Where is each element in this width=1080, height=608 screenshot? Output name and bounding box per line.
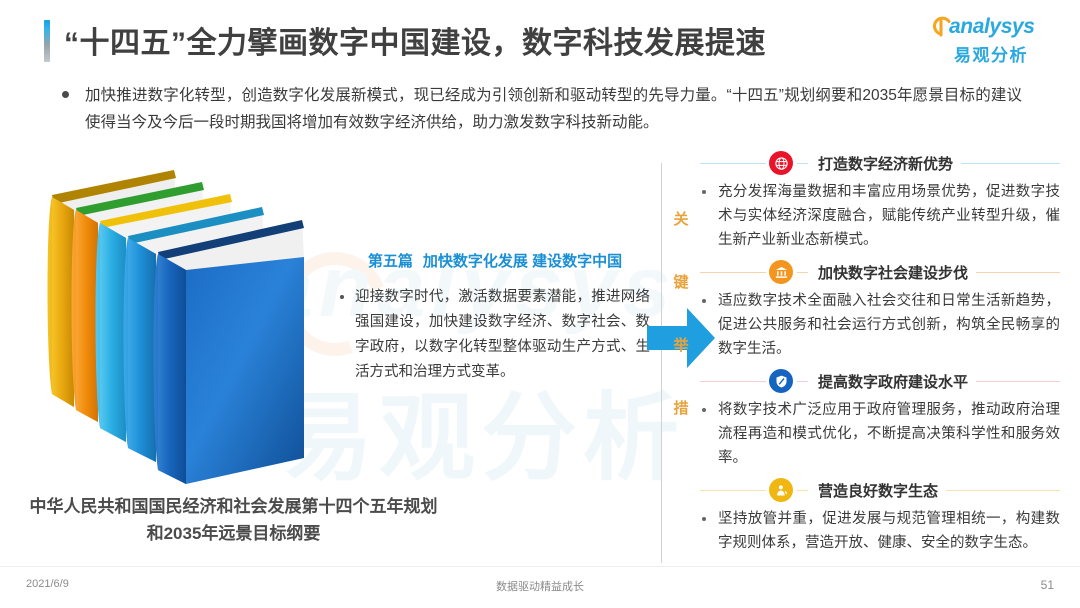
global-economy-icon [769,151,793,175]
section-rule-right [976,381,1060,382]
section-title: 加快数字社会建设步伐 [818,262,968,283]
brand-name-cn: 易观分析 [930,41,1052,66]
stacked-books-illustration [34,162,334,492]
page-title: “十四五”全力擘画数字中国建设，数字科技发展提速 [64,18,766,62]
footer-page-number: 51 [1041,578,1054,592]
bullet-icon [702,517,706,521]
lead-text: 加快推进数字化转型，创造数字化发展新模式，现已经成为引领创新和驱动转型的先导力量… [85,82,1022,136]
person-ecology-icon [769,478,793,502]
measure-section-4: 营造良好数字生态 坚持放管并重，促进发展与规范管理相统一，构建数字规则体系，营造… [700,477,1060,555]
section-rule-left [700,163,766,164]
brand-wordmark: analysys [949,15,1035,39]
footer-slogan: 数据驱动精益成长 [0,578,1080,594]
lead-paragraph: 加快推进数字化转型，创造数字化发展新模式，现已经成为引领创新和驱动转型的先导力量… [62,82,1022,136]
section-rule-right [976,272,1060,273]
section-rule-right [946,490,1060,491]
section-rule-left [700,490,766,491]
bullet-icon [702,408,706,412]
measure-section-1: 打造数字经济新优势 充分发挥海量数据和丰富应用场景优势，促进数字技术与实体经济深… [700,150,1060,252]
vertical-label-char-2: 举 [673,338,688,353]
title-accent-bar [44,20,50,62]
middle-body-text: 迎接数字时代，激活数据要素潜能，推进网络强国建设，加快建设数字经济、数字社会、数… [355,285,650,385]
section-rule-right [961,163,1060,164]
section-title: 打造数字经济新优势 [818,153,953,174]
section-rule-dash [797,381,808,382]
bullet-icon [340,295,344,299]
section-rule-left [700,381,766,382]
measure-section-3: 提高数字政府建设水平 将数字技术广泛应用于政府管理服务，推动政府治理流程再造和模… [700,368,1060,470]
key-measures-list: 打造数字经济新优势 充分发挥海量数据和丰富应用场景优势，促进数字技术与实体经济深… [700,150,1060,562]
middle-heading: 第五篇加快数字化发展 建设数字中国 [340,250,650,271]
bullet-icon [62,91,69,98]
middle-column: 第五篇加快数字化发展 建设数字中国 迎接数字时代，激活数据要素潜能，推进网络强国… [340,250,650,385]
illustration-caption: 中华人民共和国国民经济和社会发展第十四个五年规划和2035年远景目标纲要 [26,493,441,547]
section-rule-dash [797,163,808,164]
section-body-text: 将数字技术广泛应用于政府管理服务，推动政府治理流程再造和模式优化，不断提高决策科… [718,398,1060,470]
section-rule-dash [797,490,808,491]
key-measures-label: 关 键 举 措 [670,212,692,416]
vertical-label-char-3: 措 [673,401,688,416]
middle-heading-part2: 加快数字化发展 建设数字中国 [423,253,622,270]
middle-heading-part1: 第五篇 [368,253,413,270]
brand-logo: analysys 易观分析 [930,14,1052,66]
bank-building-icon [769,260,793,284]
vertical-label-char-1: 键 [673,275,688,290]
section-rule-left [700,272,766,273]
footer-divider [0,566,1080,567]
vertical-label-char-0: 关 [673,212,688,227]
section-body-text: 适应数字技术全面融入社会交往和日常生活新趋势，促进公共服务和社会运行方式创新，构… [718,289,1060,361]
shield-government-icon [769,369,793,393]
bullet-icon [702,299,706,303]
measure-section-2: 加快数字社会建设步伐 适应数字技术全面融入社会交往和日常生活新趋势，促进公共服务… [700,259,1060,361]
section-rule-dash [797,272,808,273]
section-title: 营造良好数字生态 [818,480,938,501]
section-body-text: 充分发挥海量数据和丰富应用场景优势，促进数字技术与实体经济深度融合，赋能传统产业… [718,180,1060,252]
section-title: 提高数字政府建设水平 [818,371,968,392]
bullet-icon [702,190,706,194]
section-body-text: 坚持放管并重，促进发展与规范管理相统一，构建数字规则体系，营造开放、健康、安全的… [718,507,1060,555]
